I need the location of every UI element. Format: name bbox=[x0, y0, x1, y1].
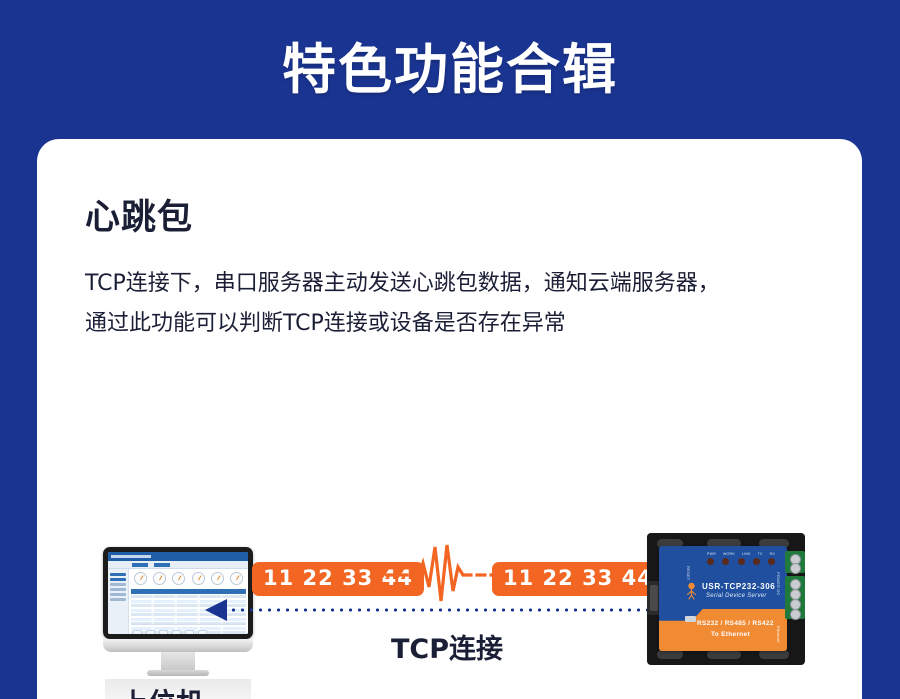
app-main bbox=[108, 569, 248, 634]
status-bar bbox=[131, 624, 246, 634]
terminal-block-bottom bbox=[785, 576, 805, 619]
device-interface-label-1: RS232 / RS485 / RS422 bbox=[697, 620, 774, 627]
terminal-block-top bbox=[785, 551, 805, 573]
gauge-row bbox=[129, 569, 248, 587]
led-indicator bbox=[753, 558, 760, 565]
device-leds bbox=[707, 558, 775, 565]
connection-line bbox=[229, 607, 659, 613]
caption-left: 上位机 TCP Server bbox=[57, 687, 267, 699]
device-led-group: PWR WORK LINK TX RX bbox=[707, 552, 775, 565]
app-sidebar bbox=[108, 569, 129, 634]
monitor-stand-base bbox=[147, 670, 209, 676]
monitor-stand-neck bbox=[161, 652, 195, 670]
led-label-work: WORK bbox=[723, 552, 735, 556]
feature-card: 心跳包 TCP连接下，串口服务器主动发送心跳包数据，通知云端服务器， 通过此功能… bbox=[37, 139, 862, 699]
monitor-screen bbox=[108, 552, 248, 634]
page-title: 特色功能合辑 bbox=[282, 43, 618, 97]
device-reset-label: RESET bbox=[686, 566, 691, 580]
status-icon bbox=[133, 630, 142, 634]
led-indicator bbox=[738, 558, 745, 565]
table-header bbox=[131, 589, 246, 594]
window-controls bbox=[221, 554, 245, 559]
sidebar-item bbox=[110, 588, 126, 591]
led-indicator bbox=[722, 558, 729, 565]
monitor-chin bbox=[103, 639, 253, 652]
usr-brand-logo-icon bbox=[685, 582, 698, 600]
connection-arrow-icon bbox=[205, 599, 227, 621]
device-model-label: USR-TCP232-306 bbox=[702, 582, 775, 591]
gauge-icon bbox=[134, 572, 147, 585]
description-line-1: TCP连接下，串口服务器主动发送心跳包数据，通知云端服务器， bbox=[85, 264, 845, 304]
terminal-screw bbox=[790, 609, 801, 620]
gauge-icon bbox=[153, 572, 166, 585]
device-faceplate: RESET PWR WORK LINK TX RX bbox=[659, 546, 787, 651]
usb-port bbox=[685, 616, 696, 622]
app-title-bar bbox=[108, 552, 248, 561]
gauge-icon bbox=[230, 572, 243, 585]
gauge-icon bbox=[172, 572, 185, 585]
caption-left-line1: 上位机 bbox=[57, 687, 267, 699]
description-line-2: 通过此功能可以判断TCP连接或设备是否存在异常 bbox=[85, 304, 845, 344]
sidebar-item bbox=[110, 578, 126, 581]
status-icon bbox=[172, 630, 181, 634]
status-icon bbox=[185, 630, 194, 634]
section-description: TCP连接下，串口服务器主动发送心跳包数据，通知云端服务器， 通过此功能可以判断… bbox=[85, 264, 845, 344]
device-ethernet-label: Ethernet bbox=[776, 626, 781, 643]
device-interface-label-2: To Ethernet bbox=[711, 631, 750, 638]
terminal-screw bbox=[790, 563, 801, 574]
mount-hole bbox=[657, 650, 683, 659]
screw-terminal-block bbox=[785, 551, 805, 619]
device-accent-band bbox=[659, 609, 787, 651]
topology-diagram: 11 22 33 44 11 22 33 44 TCP连接 bbox=[37, 389, 862, 699]
device-power-label: POWER DC bbox=[776, 572, 781, 596]
app-toolbar bbox=[108, 561, 248, 569]
connection-label: TCP连接 bbox=[337, 627, 557, 666]
led-indicator bbox=[707, 558, 714, 565]
table-row bbox=[131, 595, 246, 598]
device-subtitle-label: Serial Device Server bbox=[706, 593, 767, 599]
mount-hole bbox=[759, 650, 789, 659]
table-row bbox=[131, 600, 246, 603]
table-row bbox=[131, 618, 246, 621]
status-icon bbox=[146, 630, 155, 634]
sidebar-item bbox=[110, 573, 126, 576]
monitor-bezel bbox=[103, 547, 253, 639]
led-indicator bbox=[768, 558, 775, 565]
serial-device-server-illustration: RESET PWR WORK LINK TX RX bbox=[637, 529, 817, 679]
sidebar-item bbox=[110, 598, 126, 601]
table-row bbox=[131, 613, 246, 616]
banner: 特色功能合辑 bbox=[0, 0, 900, 139]
sidebar-item bbox=[110, 593, 126, 596]
status-icon bbox=[198, 630, 207, 634]
sidebar-item bbox=[110, 583, 126, 586]
device-led-labels: PWR WORK LINK TX RX bbox=[707, 552, 775, 556]
status-icon bbox=[159, 630, 168, 634]
app-content bbox=[129, 569, 248, 634]
led-label-rx: RX bbox=[770, 552, 775, 556]
mount-hole bbox=[707, 650, 741, 659]
led-label-link: LINK bbox=[742, 552, 751, 556]
led-label-tx: TX bbox=[758, 552, 763, 556]
led-label-pwr: PWR bbox=[707, 552, 716, 556]
gauge-icon bbox=[192, 572, 205, 585]
caption-right: TCP Client bbox=[617, 694, 837, 699]
section-heading: 心跳包 bbox=[85, 201, 193, 236]
page-root: 特色功能合辑 心跳包 TCP连接下，串口服务器主动发送心跳包数据，通知云端服务器… bbox=[0, 0, 900, 662]
gauge-icon bbox=[211, 572, 224, 585]
heartbeat-waveform-icon bbox=[385, 539, 505, 611]
